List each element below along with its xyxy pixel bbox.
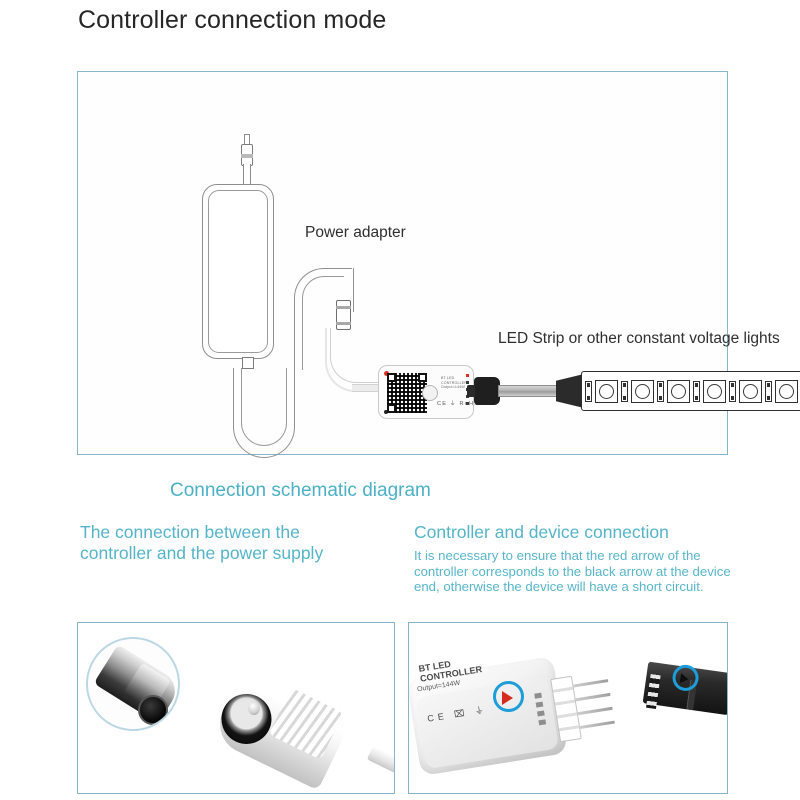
ac-plug-icon [241, 144, 253, 166]
led-strip-segment [621, 380, 657, 403]
strip-led-package [667, 380, 690, 403]
output-pin-4 [466, 402, 469, 405]
header-pin-1 [572, 679, 608, 688]
dc-female-cable [367, 746, 394, 788]
controller-button-icon[interactable] [422, 385, 438, 401]
qr-finder-bottom-left [387, 404, 396, 413]
strip-resistor [765, 381, 772, 402]
photo-dc-connectors [78, 623, 394, 793]
dc-male-plug-bore [138, 695, 168, 725]
led-controller-device: BT LED CONTROLLER Output=144W CE ⏚ RoHS … [378, 365, 474, 419]
strip-resistor [585, 381, 592, 402]
photo-panel-device-connection: BT LED CONTROLLER Output=144W CE ⌧ ⏚ [408, 622, 728, 794]
led-strip-segment [657, 380, 693, 403]
four-pin-black-plug-icon [474, 377, 500, 405]
led-strip-cells [582, 372, 800, 410]
led-strip-segment [693, 380, 729, 403]
header-pin-3 [577, 707, 613, 716]
strip-resistor [729, 381, 736, 402]
dc-female-center-pin [248, 701, 260, 715]
controller-spec-text: Output=144W [441, 385, 467, 390]
strip-led-dome [779, 384, 794, 399]
controller-brand-text: BT LED CONTROLLER Output=144W [441, 376, 467, 390]
section-heading-left: The connection between the controller an… [80, 522, 400, 564]
led-strip-segment [585, 380, 621, 403]
strip-led-dome [635, 384, 650, 399]
ac-cable-stub [243, 164, 251, 186]
header-pin-2 [574, 693, 610, 702]
output-pin-1 [466, 381, 469, 384]
led-strip-segment [765, 380, 800, 403]
led-strip-end-cap [556, 374, 584, 408]
connection-schematic-panel: Power adapter BT LED CONTROLLER Output=1… [77, 71, 728, 455]
strip-led-package [631, 380, 654, 403]
qr-finder-top-right [418, 373, 427, 382]
label-power-adapter: Power adapter [305, 224, 406, 242]
section-body-right: It is necessary to ensure that the red a… [414, 548, 744, 595]
dc-female-jack [218, 663, 388, 771]
photo-controller-and-connector: BT LED CONTROLLER Output=144W CE ⌧ ⏚ [409, 623, 727, 793]
schematic-caption: Connection schematic diagram [170, 480, 431, 502]
dc-male-plug-inset [86, 637, 180, 731]
connector-contact-slots [646, 674, 661, 709]
strip-led-package [595, 380, 618, 403]
strip-led-package [775, 380, 798, 403]
strip-led-package [739, 380, 762, 403]
qr-finder-top-left [387, 373, 396, 382]
indicator-led-2 [536, 702, 544, 708]
indicator-led-1 [534, 693, 542, 699]
strip-led-dome [743, 384, 758, 399]
four-pin-female-connector [641, 654, 727, 727]
strip-resistor [621, 381, 628, 402]
strip-lead-wire [498, 385, 560, 397]
indicator-led-4 [538, 719, 546, 725]
power-adapter-inner-outline [208, 190, 268, 353]
photo-panel-power-connection [77, 622, 395, 794]
power-adapter-brick [202, 184, 274, 359]
page-title: Controller connection mode [78, 6, 386, 35]
section-heading-right: Controller and device connection [414, 522, 744, 543]
section-heading-left-line1: The connection between the [80, 522, 400, 543]
section-heading-left-line2: controller and the power supply [80, 543, 400, 564]
strip-resistor [657, 381, 664, 402]
indicator-led-3 [537, 710, 545, 716]
dc-cable-loop-inner [241, 368, 287, 446]
strip-led-dome [671, 384, 686, 399]
led-strip-graphic [581, 371, 800, 411]
controller-pigtail-cable-inner [330, 328, 380, 383]
strip-led-package [703, 380, 726, 403]
qr-code-icon [387, 373, 427, 413]
header-pin-4 [579, 721, 615, 730]
output-pin-red [466, 374, 469, 377]
dc-barrel-connector-icon [336, 300, 351, 330]
strip-led-dome [599, 384, 614, 399]
highlight-ring-red-arrow [493, 681, 524, 712]
label-led-strip: LED Strip or other constant voltage ligh… [498, 330, 780, 348]
page-root: Controller connection mode Power adapter [0, 0, 800, 800]
strip-led-dome [707, 384, 722, 399]
strip-resistor [693, 381, 700, 402]
led-strip-segment [729, 380, 765, 403]
